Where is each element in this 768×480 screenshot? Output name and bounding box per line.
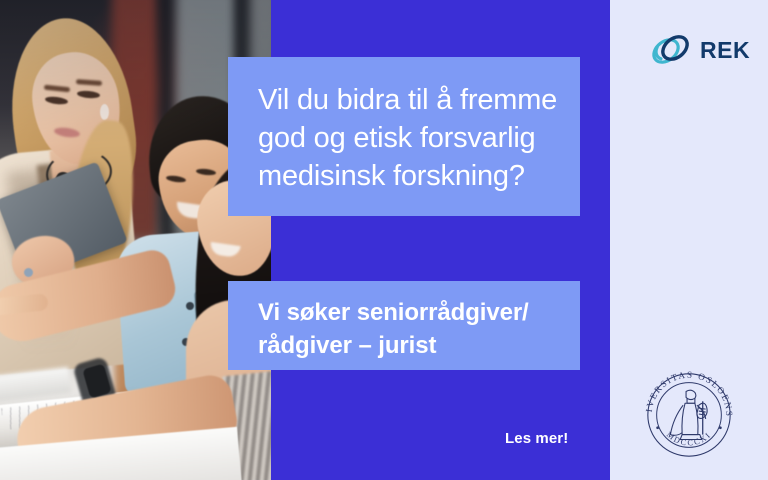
rek-logo[interactable]: REK [648, 26, 748, 74]
recruitment-banner: REK UNIVERSITAS OSLOENSIS MDCCCXI [0, 0, 768, 480]
read-more-cta[interactable]: Les mer! [505, 430, 568, 447]
apollo-with-lyre-icon [670, 390, 707, 439]
headline-box: Vil du bidra til å fremme god og etisk f… [228, 57, 580, 216]
headline-line-2: god og etisk forsvarlig [258, 119, 554, 157]
role-line-2: rådgiver – jurist [258, 329, 558, 362]
role-box: Vi søker seniorrådgiver/ rådgiver – juri… [228, 281, 580, 370]
headline-line-3: medisinsk forskning? [258, 157, 554, 195]
uio-seal: UNIVERSITAS OSLOENSIS MDCCCXI [640, 366, 738, 464]
uio-seal-bottom-text: MDCCCXI [665, 430, 714, 448]
headline-line-1: Vil du bidra til å fremme [258, 81, 554, 119]
photo-person-one-ring [24, 268, 33, 277]
rek-wordmark: REK [700, 39, 750, 62]
role-line-1: Vi søker seniorrådgiver/ [258, 296, 558, 329]
interlocking-loops-icon [648, 27, 694, 73]
photo-person-one-earring [100, 104, 109, 120]
uio-seal-top-text: UNIVERSITAS OSLOENSIS [640, 366, 734, 418]
photo-person-two-shirt-button [186, 302, 194, 310]
